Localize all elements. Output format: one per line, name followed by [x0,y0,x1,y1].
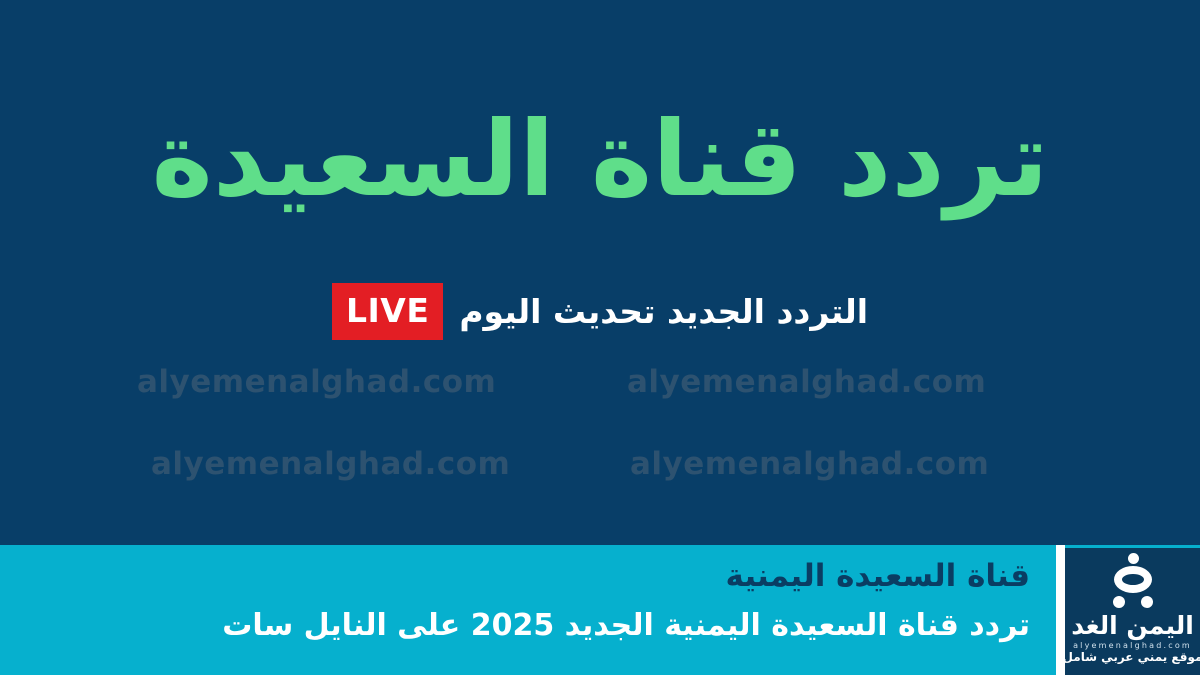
subtitle-row: التردد الجديد تحديث اليوم LIVE [0,283,1200,339]
site-logo[interactable]: اليمن الغد alyemenalghad.com موقع يمني ع… [1065,548,1200,675]
logo-name: اليمن الغد [1071,612,1194,640]
bottom-bar-caption: تردد قناة السعيدة اليمنية الجديد 2025 عل… [150,608,1030,643]
logo-tagline: موقع يمني عربي شامل [1063,650,1200,664]
logo-dot-bottom-right-icon [1141,596,1153,608]
subtitle-text: التردد الجديد تحديث اليوم [459,292,868,331]
bottom-bar-texts: قناة السعيدة اليمنية تردد قناة السعيدة ا… [150,545,1030,675]
live-badge: LIVE [332,283,443,340]
bottom-bar-heading: قناة السعيدة اليمنية [150,558,1030,594]
hero-section [0,0,1200,545]
logo-ring-icon [1114,566,1152,593]
page-title: تردد قناة السعيدة [0,103,1200,215]
banner-root: alyemenalghad.com alyemenalghad.com alye… [0,0,1200,675]
logo-dot-bottom-left-icon [1113,596,1125,608]
logo-domain: alyemenalghad.com [1073,641,1192,650]
bottom-bar: قناة السعيدة اليمنية تردد قناة السعيدة ا… [0,545,1200,675]
logo-dot-top-icon [1128,553,1139,564]
alyemenalghad-logo-mark-icon [1103,553,1163,609]
